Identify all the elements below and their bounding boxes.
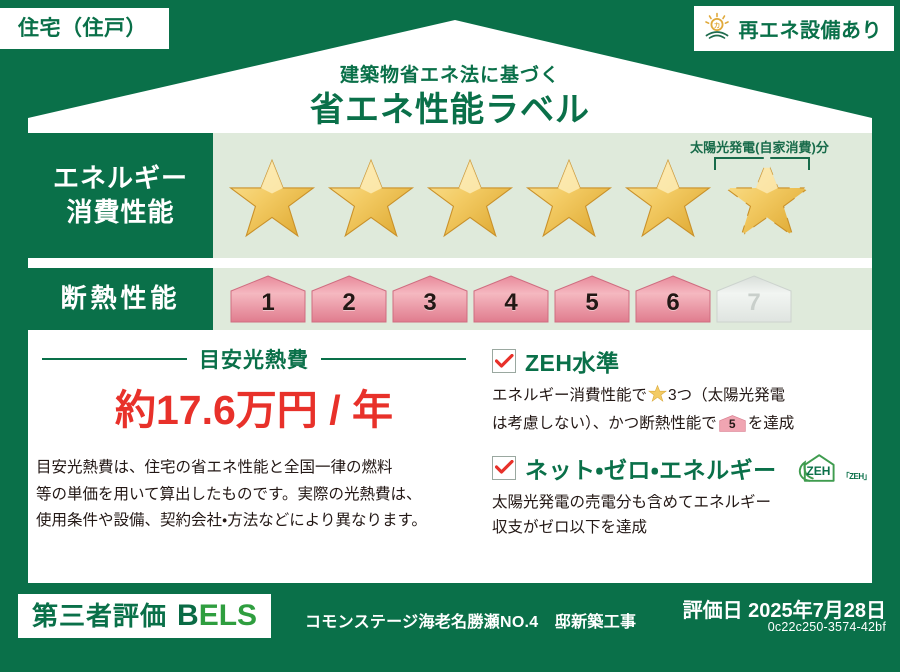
utility-cost-heading-text: 目安光熱費 <box>199 344 309 374</box>
lower-panel: 目安光熱費 約17.6万円 / 年 目安光熱費は、住宅の省エネ性能と全国一律の燃… <box>28 330 872 574</box>
label-content: エネルギー 消費性能 太陽光発電(自家消費)分 <box>28 133 872 574</box>
utility-cost-panel: 目安光熱費 約17.6万円 / 年 目安光熱費は、住宅の省エネ性能と全国一律の燃… <box>28 344 480 574</box>
energy-label-line2: 消費性能 <box>66 196 174 229</box>
energy-label-line1: エネルギー <box>53 162 188 195</box>
insulation-label: 断熱性能 <box>60 282 180 315</box>
solar-note-text: 太陽光発電(自家消費)分 <box>657 137 862 156</box>
check-icon <box>492 456 516 480</box>
net-zero-header: ネット・ゼロ・エネルギー ZEH 「ZEH」 <box>492 451 872 485</box>
renewable-equipment-chip: カ 再エネ設備あり <box>694 6 895 51</box>
check-icon <box>492 349 516 373</box>
zeh-panel: ZEH水準 エネルギー消費性能で3つ（太陽光発電 は考慮しない）、かつ断熱性能で… <box>480 344 872 574</box>
energy-star-6-solar <box>718 153 816 245</box>
utility-cost-note: 目安光熱費は、住宅の省エネ性能と全国一律の燃料 等の単価を用いて算出したものです… <box>36 455 472 535</box>
building-type-label: 住宅（住戸） <box>18 17 147 40</box>
label-footer: 第三者評価 BELS コモンステージ海老名勝瀬NO.4 邸新築工事 評価日 20… <box>0 582 900 672</box>
svg-text:ZEH: ZEH <box>806 464 830 478</box>
zeh-standard-body-a: エネルギー消費性能で <box>492 387 647 404</box>
insulation-level-3: 3 <box>391 274 469 324</box>
insulation-level-7-value: 7 <box>715 291 793 315</box>
insulation-level-6: 6 <box>634 274 712 324</box>
label-title: 省エネ性能ラベル <box>0 82 900 131</box>
inline-house-value: 5 <box>719 418 746 430</box>
zeh-logo-icon: ZEH 「ZEH」 <box>792 452 872 484</box>
insulation-level-5-value: 5 <box>553 291 631 315</box>
insulation-level-4: 4 <box>472 274 550 324</box>
energy-star-2 <box>322 153 420 245</box>
row-divider <box>28 258 872 268</box>
third-party-label: 第三者評価 <box>32 603 167 629</box>
insulation-level-1: 1 <box>229 274 307 324</box>
energy-performance-label-cell: エネルギー 消費性能 <box>28 133 213 258</box>
project-name: コモンステージ海老名勝瀬NO.4 邸新築工事 <box>305 608 636 632</box>
zeh-standard-body: エネルギー消費性能で3つ（太陽光発電 は考慮しない）、かつ断熱性能で5を達成 <box>492 383 872 437</box>
utility-cost-value: 約17.6万円 / 年 <box>36 388 472 433</box>
zeh-standard-title: ZEH水準 <box>525 344 620 378</box>
building-type-chip: 住宅（住戸） <box>0 8 169 49</box>
insulation-level-6-value: 6 <box>634 291 712 315</box>
net-zero-title: ネット・ゼロ・エネルギー <box>525 451 777 485</box>
bels-logo-b: B <box>177 599 199 632</box>
bels-logo-els: ELS <box>199 599 257 632</box>
insulation-level-7: 7 <box>715 274 793 324</box>
net-zero-energy-block: ネット・ゼロ・エネルギー ZEH 「ZEH」 太陽光発電の売電分も含めてエネルギ… <box>492 451 872 541</box>
insulation-rating-cell: 1 2 3 4 <box>213 268 872 330</box>
energy-star-5 <box>619 153 717 245</box>
utility-cost-note-line-3: 使用条件や設備、契約会社・方法などにより異なります。 <box>36 508 472 535</box>
energy-star-4 <box>520 153 618 245</box>
utility-cost-note-line-1: 目安光熱費は、住宅の省エネ性能と全国一律の燃料 <box>36 455 472 482</box>
zeh-standard-block: ZEH水準 エネルギー消費性能で3つ（太陽光発電 は考慮しない）、かつ断熱性能で… <box>492 344 872 437</box>
zeh-standard-body-b: は考慮しない）、かつ断熱性能で <box>492 415 717 432</box>
energy-rating-stars-cell: 太陽光発電(自家消費)分 <box>213 133 872 258</box>
sun-icon: カ <box>702 11 732 46</box>
evaluation-date: 評価日 2025年7月28日 <box>683 594 886 623</box>
inline-house-badge: 5 <box>719 414 746 433</box>
energy-star-rating <box>223 153 816 245</box>
insulation-level-5: 5 <box>553 274 631 324</box>
heading-rule-right <box>321 358 466 360</box>
insulation-level-3-value: 3 <box>391 291 469 315</box>
inline-star-icon <box>648 384 667 411</box>
energy-star-3 <box>421 153 519 245</box>
insulation-level-4-value: 4 <box>472 291 550 315</box>
svg-text:カ: カ <box>713 22 720 30</box>
energy-star-1 <box>223 153 321 245</box>
bels-certification-chip: 第三者評価 BELS <box>18 594 271 638</box>
insulation-performance-row: 断熱性能 <box>28 268 872 330</box>
energy-performance-row: エネルギー 消費性能 太陽光発電(自家消費)分 <box>28 133 872 258</box>
evaluation-id: 0c22c250-3574-42bf <box>768 620 886 634</box>
zeh-logo-tag: 「ZEH」 <box>842 471 872 484</box>
insulation-level-2: 2 <box>310 274 388 324</box>
net-zero-body: 太陽光発電の売電分も含めてエネルギー 収支がゼロ以下を達成 <box>492 490 872 541</box>
heading-rule-left <box>42 358 187 360</box>
zeh-standard-star-count: 3つ（太陽光発電 <box>668 387 785 404</box>
zeh-standard-header: ZEH水準 <box>492 344 872 378</box>
insulation-level-scale: 1 2 3 4 <box>213 274 793 324</box>
insulation-level-2-value: 2 <box>310 291 388 315</box>
net-zero-body-line-1: 太陽光発電の売電分も含めてエネルギー <box>492 490 872 515</box>
utility-cost-heading: 目安光熱費 <box>36 344 472 374</box>
zeh-standard-body-c: を達成 <box>748 415 795 432</box>
insulation-level-1-value: 1 <box>229 291 307 315</box>
net-zero-body-line-2: 収支がゼロ以下を達成 <box>492 515 872 540</box>
insulation-performance-label-cell: 断熱性能 <box>28 268 213 330</box>
utility-cost-note-line-2: 等の単価を用いて算出したものです。実際の光熱費は、 <box>36 482 472 509</box>
bels-logo: BELS <box>177 601 257 631</box>
renewable-equipment-label: 再エネ設備あり <box>739 14 883 43</box>
energy-performance-label: 住宅（住戸） カ 再エネ設備あり 建築物省エネ法に基づく 省エネ性能ラベル <box>0 0 900 672</box>
solar-self-consumption-note: 太陽光発電(自家消費)分 <box>657 137 862 156</box>
